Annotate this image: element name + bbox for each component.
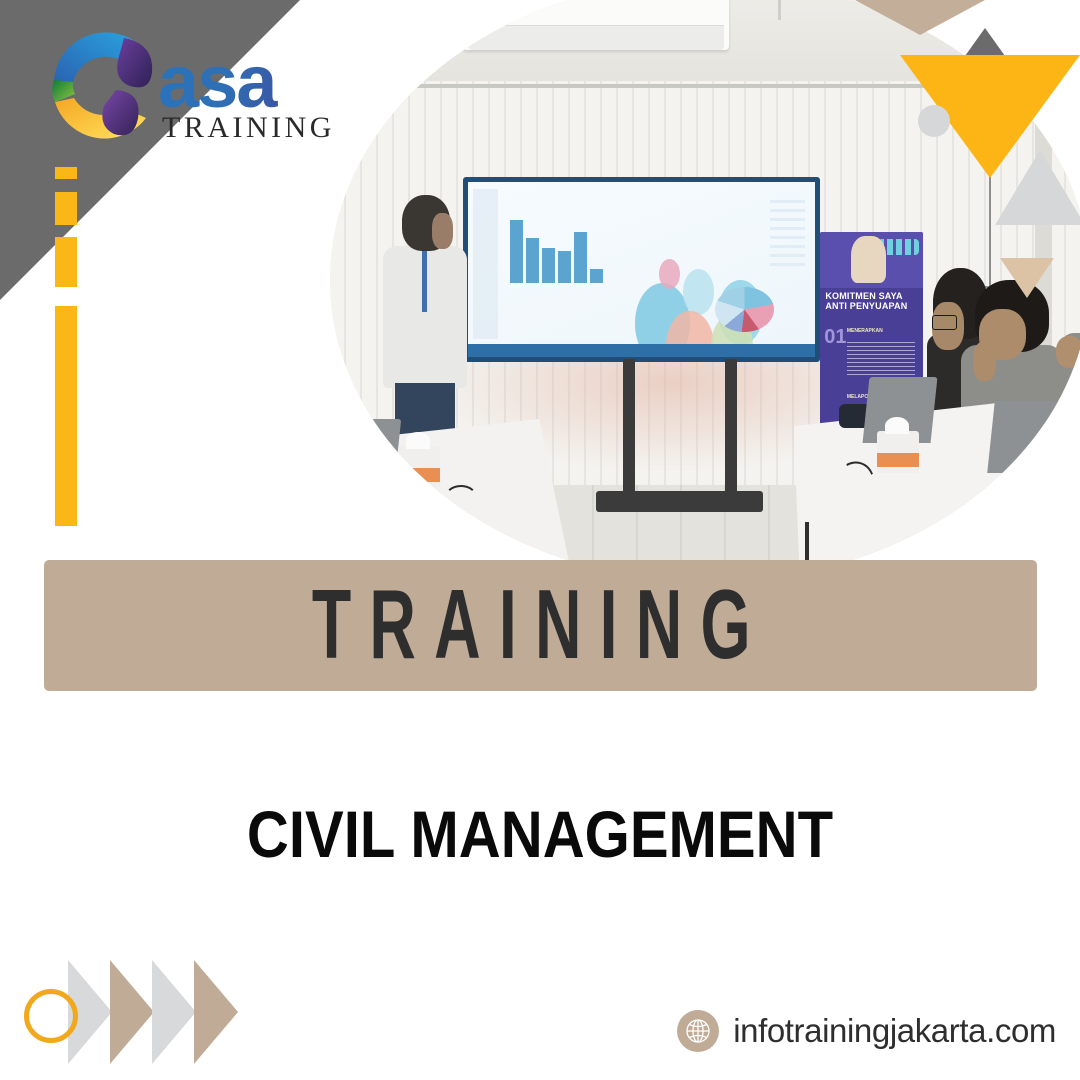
ac-pipe bbox=[778, 0, 781, 20]
cable bbox=[444, 485, 478, 513]
laptop bbox=[351, 419, 401, 461]
banner-title-line2: ANTI PENYUAPAN bbox=[825, 301, 921, 311]
attendee-right-edge bbox=[1060, 304, 1080, 449]
stand-base bbox=[596, 491, 763, 512]
banner-number-01: 01 bbox=[824, 326, 846, 349]
globe-icon bbox=[677, 1010, 719, 1052]
brand-logo[interactable]: asa TRAINING bbox=[38, 22, 338, 172]
circle-outline-icon bbox=[24, 989, 78, 1043]
dashboard-sidebar bbox=[473, 189, 497, 339]
air-conditioner-icon bbox=[463, 0, 729, 50]
banner-illustration bbox=[851, 236, 886, 283]
chevron-3 bbox=[152, 960, 196, 1064]
logo-wordmark: asa bbox=[158, 52, 388, 113]
tissue-box bbox=[877, 431, 919, 473]
yellow-bar-3 bbox=[55, 237, 77, 287]
chevron-4 bbox=[194, 960, 238, 1064]
circle-gray bbox=[918, 105, 950, 137]
website-footer[interactable]: infotrainingjakarta.com bbox=[677, 1010, 1056, 1052]
interactive-display-screen bbox=[463, 177, 820, 361]
banner-section-1: MENERAPKAN bbox=[847, 328, 883, 334]
banner-title: KOMITMEN SAYA ANTI PENYUAPAN bbox=[825, 291, 921, 311]
stand-pole-left bbox=[623, 359, 635, 498]
presenter-standing bbox=[383, 195, 467, 449]
website-url: infotrainingjakarta.com bbox=[733, 1012, 1056, 1050]
page-title: CIVIL MANAGEMENT bbox=[65, 796, 1015, 872]
dashboard-bar-chart bbox=[510, 210, 604, 283]
laptop bbox=[987, 401, 1071, 473]
stand-pole-right bbox=[725, 359, 737, 498]
banner-title-line1: KOMITMEN SAYA bbox=[825, 291, 921, 301]
tissue-box bbox=[398, 446, 440, 488]
poster-canvas: KOMITMEN SAYA ANTI PENYUAPAN 01 MENERAPK… bbox=[0, 0, 1080, 1080]
triangle-light-gray-up bbox=[995, 150, 1080, 225]
display-taskbar bbox=[468, 344, 815, 356]
logo-subtitle: TRAINING bbox=[162, 111, 388, 145]
yellow-bar-2 bbox=[55, 192, 77, 225]
dashboard-pie-chart bbox=[715, 287, 774, 332]
circular-swoosh-logo-icon bbox=[38, 22, 168, 154]
yellow-bar-4 bbox=[55, 306, 77, 526]
phone bbox=[1006, 485, 1052, 501]
band-title: TRAINING bbox=[312, 569, 769, 681]
chevron-group bbox=[18, 960, 228, 1065]
training-band: TRAINING bbox=[44, 560, 1037, 691]
triangle-tan-small-down bbox=[1000, 258, 1054, 298]
dashboard-right-panel bbox=[770, 200, 805, 270]
chevron-2 bbox=[110, 960, 154, 1064]
